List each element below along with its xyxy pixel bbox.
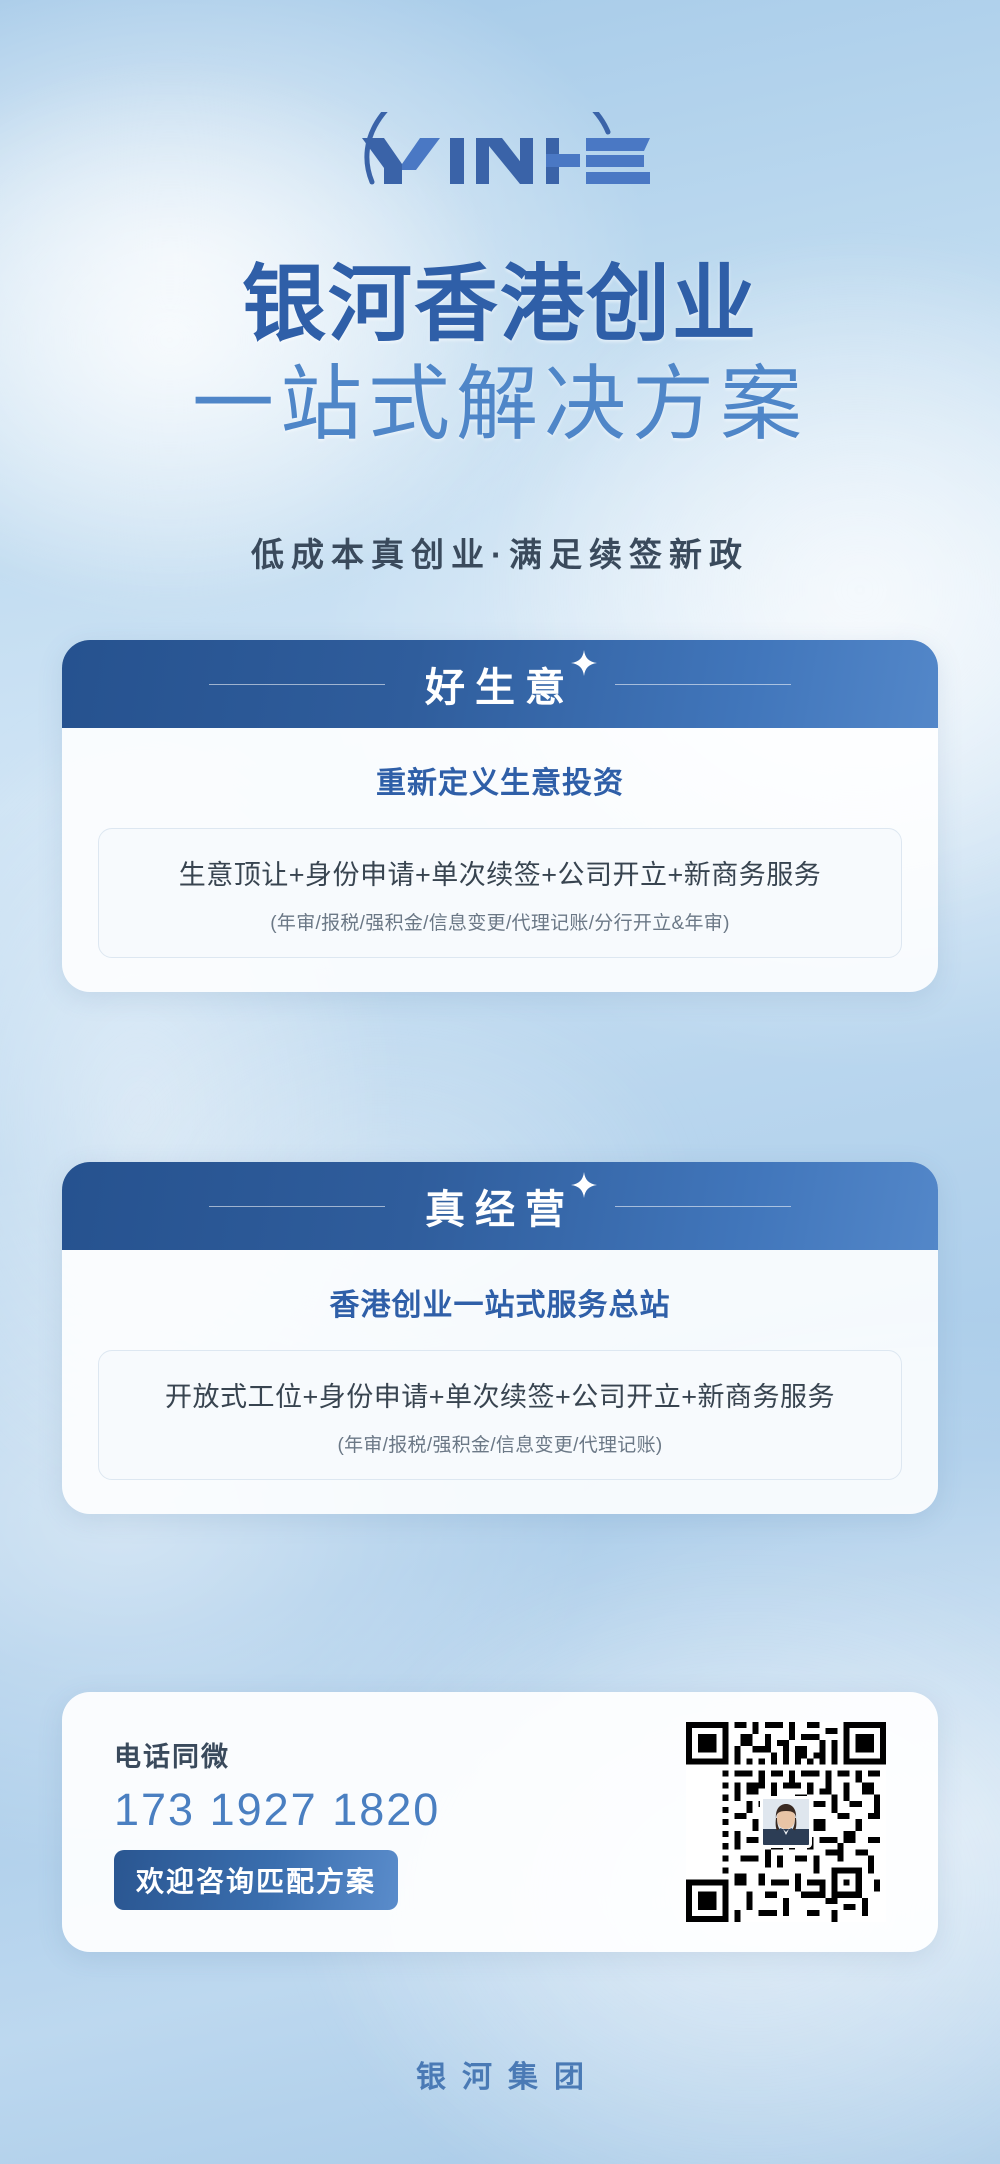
- footer-company-name: 银河集团: [0, 2052, 1000, 2096]
- header-rule-left: [209, 684, 385, 685]
- card-body: 香港创业一站式服务总站 开放式工位+身份申请+单次续签+公司开立+新商务服务 (…: [62, 1250, 938, 1514]
- card-header-title-wrap: 真经营: [425, 1177, 575, 1235]
- card-header: 好生意: [62, 640, 938, 728]
- contact-card: 电话同微 173 1927 1820 欢迎咨询匹配方案: [62, 1692, 938, 1952]
- header-rule-left: [209, 1206, 385, 1207]
- hero-heading: 银河香港创业 一站式解决方案: [0, 262, 1000, 446]
- card-header-title: 真经营: [425, 1188, 575, 1232]
- card-header-title-wrap: 好生意: [425, 655, 575, 713]
- sparkle-icon: [571, 1163, 597, 1189]
- consult-cta-button[interactable]: 欢迎咨询匹配方案: [114, 1850, 398, 1910]
- sparkle-icon: [571, 641, 597, 667]
- offer-card-good-business: 好生意 重新定义生意投资 生意顶让+身份申请+单次续签+公司开立+新商务服务 (…: [62, 640, 938, 992]
- card-header: 真经营: [62, 1162, 938, 1250]
- brand-logo: [0, 112, 1000, 186]
- card-subtitle: 重新定义生意投资: [98, 758, 902, 802]
- header-rule-right: [615, 684, 791, 685]
- card-detail-box: 开放式工位+身份申请+单次续签+公司开立+新商务服务 (年审/报税/强积金/信息…: [98, 1350, 902, 1480]
- hero-title-line-1: 银河香港创业: [0, 262, 1000, 346]
- contact-info: 电话同微 173 1927 1820 欢迎咨询匹配方案: [62, 1735, 686, 1910]
- card-detail-text: 开放式工位+身份申请+单次续签+公司开立+新商务服务: [121, 1377, 879, 1418]
- contact-label: 电话同微: [114, 1735, 686, 1774]
- card-detail-box: 生意顶让+身份申请+单次续签+公司开立+新商务服务 (年审/报税/强积金/信息变…: [98, 828, 902, 958]
- card-detail-text: 生意顶让+身份申请+单次续签+公司开立+新商务服务: [121, 855, 879, 896]
- yinhe-arc-logo: [350, 112, 650, 186]
- avatar: [760, 1796, 812, 1848]
- card-detail-note: (年审/报税/强积金/信息变更/代理记账/分行开立&年审): [121, 908, 879, 935]
- header-rule-right: [615, 1206, 791, 1207]
- hero-subtitle: 低成本真创业·满足续签新政: [0, 528, 1000, 576]
- card-body: 重新定义生意投资 生意顶让+身份申请+单次续签+公司开立+新商务服务 (年审/报…: [62, 728, 938, 992]
- wechat-qr-code[interactable]: [686, 1722, 886, 1922]
- contact-phone-number[interactable]: 173 1927 1820: [114, 1784, 686, 1836]
- card-subtitle: 香港创业一站式服务总站: [98, 1280, 902, 1324]
- poster-root: 银河香港创业 一站式解决方案 低成本真创业·满足续签新政 好生意 重新定义生意投…: [0, 0, 1000, 2164]
- card-header-title: 好生意: [425, 666, 575, 710]
- offer-card-real-operation: 真经营 香港创业一站式服务总站 开放式工位+身份申请+单次续签+公司开立+新商务…: [62, 1162, 938, 1514]
- hero-title-line-2: 一站式解决方案: [0, 364, 1000, 446]
- card-detail-note: (年审/报税/强积金/信息变更/代理记账): [121, 1430, 879, 1457]
